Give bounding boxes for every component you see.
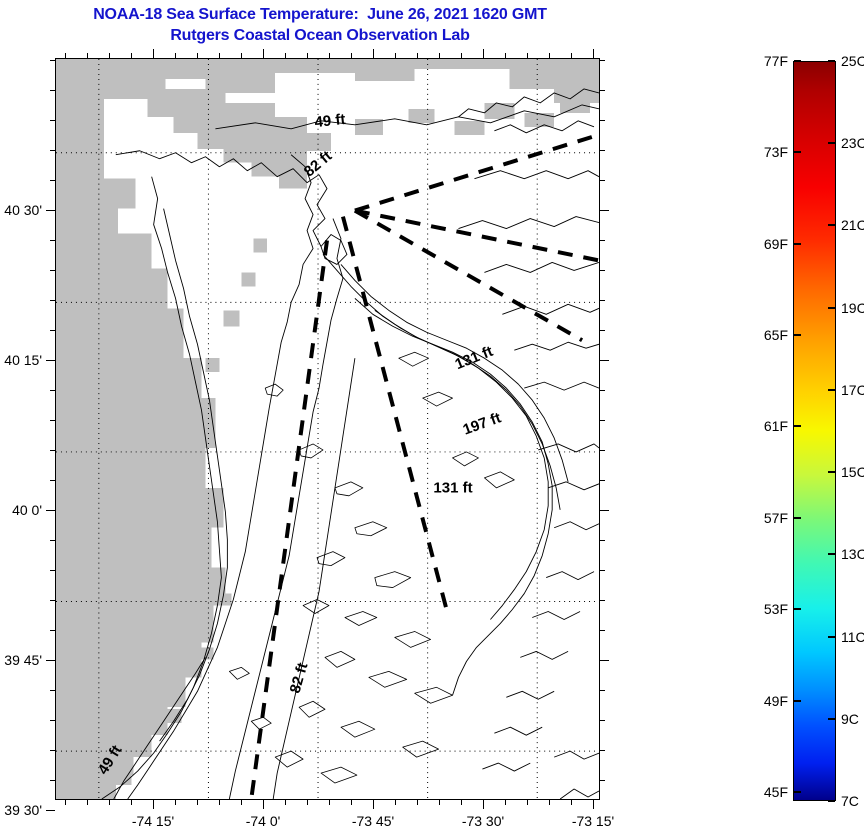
colorbar-tick-f [794,608,801,610]
x-top-tick [219,53,220,58]
y-minor-tick [50,600,55,601]
y-right-tick [600,300,605,301]
colorbar-tick-f [794,425,801,427]
y-right-tick [600,60,605,61]
colorbar-label-f: 57F [738,510,788,526]
depth-contour-label: 131 ft [433,480,472,497]
colorbar-tick-f [794,334,801,336]
colorbar-label-f: 73F [738,144,788,160]
x-axis-label: -74 15' [132,813,174,829]
x-top-tick [439,53,440,58]
colorbar-label-f: 69F [738,236,788,252]
y-minor-tick [50,390,55,391]
colorbar-label-f: 61F [738,418,788,434]
x-minor-tick [219,800,220,805]
y-right-tick [600,240,605,241]
y-major-tick [46,360,55,361]
y-minor-tick [50,240,55,241]
x-top-tick [483,49,484,58]
x-axis-label: -73 15' [572,813,614,829]
y-minor-tick [50,540,55,541]
colorbar-tick-f [794,791,801,793]
sst-map-page: NOAA-18 Sea Surface Temperature: June 26… [0,0,864,832]
x-top-tick [307,53,308,58]
y-minor-tick [50,150,55,151]
x-axis-label: -73 45' [352,813,394,829]
x-axis-label: -74 0' [246,813,281,829]
x-minor-tick [505,800,506,805]
title-line-1: NOAA-18 Sea Surface Temperature: June 26… [0,4,640,25]
y-right-tick [600,120,605,121]
y-right-tick [600,420,605,421]
x-top-tick [527,53,528,58]
page-title: NOAA-18 Sea Surface Temperature: June 26… [0,4,640,46]
y-minor-tick [50,720,55,721]
x-top-tick [505,53,506,58]
x-top-tick [461,53,462,58]
x-minor-tick [417,800,418,805]
y-right-tick [600,210,609,211]
x-major-tick [263,800,264,809]
depth-contour-label: 49 ft [314,111,346,131]
colorbar-gradient [793,61,836,801]
y-minor-tick [50,60,55,61]
temperature-colorbar[interactable]: 25C23C21C19C17C15C13C11C9C7C77F73F69F65F… [793,61,836,801]
y-right-tick [600,330,605,331]
colorbar-tick-f [794,517,801,519]
colorbar-label-c: 19C [841,300,864,316]
y-axis-label: 39 45' [0,652,42,668]
x-top-tick [131,53,132,58]
x-top-tick [351,53,352,58]
colorbar-label-f: 45F [738,784,788,800]
y-minor-tick [50,630,55,631]
x-minor-tick [461,800,462,805]
y-minor-tick [50,750,55,751]
x-top-tick [87,53,88,58]
y-minor-tick [50,690,55,691]
y-minor-tick [50,420,55,421]
x-top-tick [571,53,572,58]
colorbar-label-f: 49F [738,693,788,709]
x-top-tick [153,49,154,58]
colorbar-label-c: 11C [841,629,864,645]
y-minor-tick [50,480,55,481]
x-axis-label: -73 30' [462,813,504,829]
y-minor-tick [50,90,55,91]
x-minor-tick [329,800,330,805]
map-graphics [56,59,599,799]
x-minor-tick [197,800,198,805]
colorbar-label-f: 77F [738,53,788,69]
colorbar-tick-f [794,243,801,245]
x-minor-tick [175,800,176,805]
x-top-tick [329,53,330,58]
x-minor-tick [241,800,242,805]
y-major-tick [46,810,55,811]
y-minor-tick [50,780,55,781]
y-minor-tick [50,570,55,571]
y-right-tick [600,750,605,751]
x-minor-tick [307,800,308,805]
x-top-tick [417,53,418,58]
y-right-tick [600,690,605,691]
y-right-tick [600,510,609,511]
x-minor-tick [109,800,110,805]
y-minor-tick [50,180,55,181]
x-top-tick [241,53,242,58]
y-right-tick [600,780,605,781]
x-major-tick [373,800,374,809]
x-minor-tick [439,800,440,805]
y-minor-tick [50,450,55,451]
x-minor-tick [87,800,88,805]
colorbar-label-c: 21C [841,217,864,233]
y-right-tick [600,600,605,601]
y-minor-tick [50,300,55,301]
x-top-tick [109,53,110,58]
colorbar-label-c: 25C [841,53,864,69]
x-minor-tick [395,800,396,805]
colorbar-tick-c [828,142,835,144]
y-minor-tick [50,120,55,121]
colorbar-label-c: 15C [841,464,864,480]
x-major-tick [153,800,154,809]
x-major-tick [483,800,484,809]
x-minor-tick [527,800,528,805]
x-top-tick [285,53,286,58]
x-minor-tick [571,800,572,805]
y-major-tick [46,210,55,211]
x-top-tick [549,53,550,58]
title-line-2: Rutgers Coastal Ocean Observation Lab [0,25,640,46]
y-right-tick [600,360,609,361]
y-right-tick [600,270,605,271]
x-minor-tick [549,800,550,805]
colorbar-tick-f [794,60,801,62]
y-right-tick [600,90,605,91]
y-right-tick [600,180,605,181]
x-minor-tick [285,800,286,805]
sst-map-plot[interactable] [55,58,600,800]
colorbar-tick-c [828,471,835,473]
y-axis-label: 40 30' [0,202,42,218]
y-right-tick [600,570,605,571]
colorbar-label-c: 13C [841,546,864,562]
x-top-tick [593,49,594,58]
colorbar-label-c: 7C [841,793,859,809]
y-right-tick [600,540,605,541]
y-axis-label: 39 30' [0,802,42,818]
y-axis-label: 40 0' [0,502,42,518]
x-minor-tick [131,800,132,805]
y-axis-label: 40 15' [0,352,42,368]
colorbar-tick-c [828,636,835,638]
colorbar-tick-c [828,60,835,62]
x-top-tick [65,53,66,58]
colorbar-tick-c [828,718,835,720]
y-minor-tick [50,330,55,331]
y-right-tick [600,660,609,661]
colorbar-tick-f [794,151,801,153]
x-top-tick [373,49,374,58]
y-right-tick [600,150,605,151]
colorbar-label-f: 53F [738,601,788,617]
y-right-tick [600,630,605,631]
colorbar-label-c: 23C [841,135,864,151]
colorbar-label-c: 17C [841,382,864,398]
y-major-tick [46,660,55,661]
y-major-tick [46,510,55,511]
colorbar-tick-c [828,800,835,802]
y-right-tick [600,480,605,481]
colorbar-tick-c [828,307,835,309]
x-top-tick [175,53,176,58]
colorbar-tick-f [794,700,801,702]
colorbar-tick-c [828,553,835,555]
colorbar-label-c: 9C [841,711,859,727]
x-minor-tick [351,800,352,805]
colorbar-tick-c [828,389,835,391]
x-top-tick [263,49,264,58]
x-minor-tick [65,800,66,805]
y-right-tick [600,450,605,451]
colorbar-label-f: 65F [738,327,788,343]
y-minor-tick [50,270,55,271]
colorbar-tick-c [828,224,835,226]
x-top-tick [197,53,198,58]
x-top-tick [395,53,396,58]
y-right-tick [600,390,605,391]
x-major-tick [593,800,594,809]
y-right-tick [600,720,605,721]
